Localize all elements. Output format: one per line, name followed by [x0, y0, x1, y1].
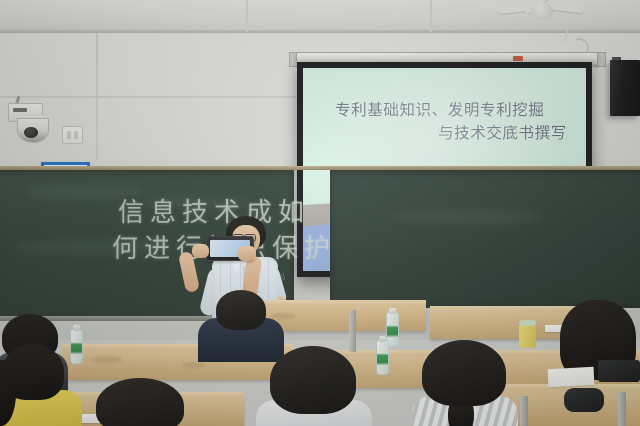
slide-title-line-2: 与技术交底书撰写: [320, 123, 572, 145]
bench-leg: [349, 310, 356, 352]
student-front-center: [256, 352, 372, 426]
student-hair: [422, 340, 506, 406]
student-hair: [96, 378, 184, 426]
student-hair: [216, 290, 266, 330]
student-left-hand: [192, 244, 209, 258]
yellow-tumbler: [519, 324, 536, 348]
fan-hub: [531, 2, 553, 20]
slide-title: 专利基础知识、发明专利挖掘 与技术交底书撰写: [320, 100, 572, 145]
black-bag: [598, 360, 640, 382]
student-yellow-shirt: [0, 346, 82, 426]
bottle-label: [377, 353, 388, 366]
roller-brand-mark: [513, 56, 523, 61]
camera-lens-icon: [24, 127, 38, 138]
classroom-photo-scene: 专利基础知识、发明专利挖掘 与技术交底书撰写 济南圣达知识产权代理有限公司 黄海…: [0, 0, 640, 426]
water-bottle: [376, 340, 389, 375]
bottle-cap: [73, 325, 80, 331]
bench-leg: [618, 392, 626, 426]
paper-sheet: [548, 367, 595, 387]
bench-leg: [520, 396, 528, 426]
bottle-cap: [389, 308, 396, 314]
student-hair: [270, 346, 356, 414]
camera-indicator: [13, 108, 27, 112]
student-front-left-b: [96, 378, 184, 426]
ceiling-fan: [498, 0, 584, 28]
wall-speaker: [610, 60, 640, 116]
power-socket: [62, 126, 83, 144]
student-striped-shirt: [412, 344, 518, 426]
bottle-label: [387, 325, 398, 338]
slide-title-line-1: 专利基础知识、发明专利挖掘: [320, 100, 572, 122]
wall-panel-line: [96, 33, 98, 168]
classroom-blackboard-right: [330, 170, 640, 308]
tumbler-lid: [519, 320, 536, 326]
student-right-hand: [238, 246, 256, 261]
ceiling-panel-line: [246, 0, 248, 32]
ceiling-panel-line: [430, 0, 432, 32]
black-bag: [564, 388, 604, 412]
student-hair: [2, 344, 64, 400]
wall-panel-line: [0, 96, 300, 98]
bottle-cap: [379, 336, 386, 342]
